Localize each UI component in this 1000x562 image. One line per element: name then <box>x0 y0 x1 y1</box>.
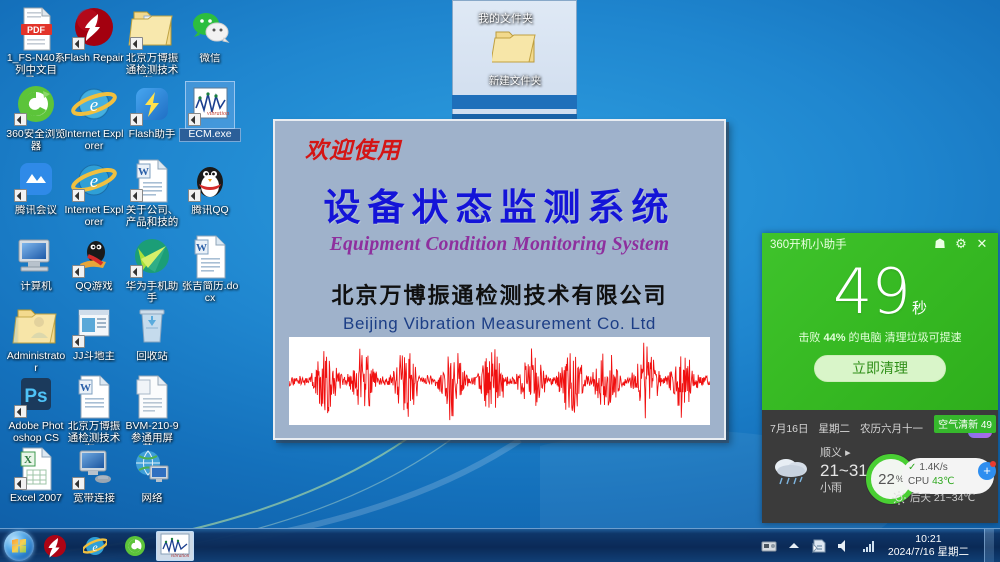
shortcut-overlay-icon <box>14 405 27 418</box>
desktop-icon-network[interactable]: 网络 <box>122 446 182 505</box>
photoshop-icon: Ps <box>12 374 60 420</box>
taskbar-button-flash-player[interactable] <box>36 531 74 561</box>
desktop-icon-administrator[interactable]: Administrator <box>6 304 66 374</box>
svg-text:vibration: vibration <box>171 554 190 559</box>
desktop-icon-label: 网络 <box>122 493 182 505</box>
excel-icon: X <box>12 446 60 492</box>
flash-player-icon <box>43 534 67 558</box>
forecast-row: 后天 21~34℃ <box>892 490 975 505</box>
desktop-icon-jj-landlord[interactable]: JJ斗地主 <box>64 304 124 363</box>
shortcut-overlay-icon <box>130 113 143 126</box>
sun-icon <box>892 491 906 505</box>
system-tray[interactable]: 10:21 2024/7/16 星期二 <box>761 529 1000 562</box>
tray-device-icon[interactable] <box>761 538 777 554</box>
desktop-icon-label: Adobe Photoshop CS5... <box>6 421 66 445</box>
shortcut-overlay-icon <box>14 477 27 490</box>
network-speed-row: ✓ 1.4K/s <box>908 461 988 475</box>
svg-text:W: W <box>138 166 149 178</box>
word-document-icon: W <box>128 158 176 204</box>
shortcut-overlay-icon <box>130 189 143 202</box>
svg-text:Ps: Ps <box>24 386 47 407</box>
qq-games-icon <box>70 234 118 280</box>
network-signal-icon[interactable] <box>861 538 877 554</box>
desktop-icon-company-doc[interactable]: W 北京万博振通检测技术有... <box>64 374 124 445</box>
splash-title-chinese: 设备状态监测系统 <box>289 177 710 231</box>
desktop-icon-wechat[interactable]: 微信 <box>180 6 240 65</box>
desktop-icon-label: Internet Explorer <box>64 129 124 152</box>
svg-text:X: X <box>24 454 32 466</box>
show-hidden-icons-icon[interactable] <box>786 538 802 554</box>
taskbar-clock[interactable]: 10:21 2024/7/16 星期二 <box>886 533 975 559</box>
qq-penguin-icon <box>186 158 234 204</box>
huawei-assistant-icon <box>128 234 176 280</box>
widget-lunar-date: 农历六月十一 <box>860 421 923 436</box>
desktop-icon-label: ECM.exe <box>180 129 240 141</box>
internet-explorer-icon: e <box>70 82 118 128</box>
show-desktop-button[interactable] <box>984 529 994 562</box>
chevron-right-icon: ▸ <box>845 447 851 459</box>
svg-text:PDF: PDF <box>27 25 46 35</box>
svg-text:W: W <box>196 242 207 254</box>
desktop-icon-label: 北京万博振通检测技术有... <box>122 53 182 77</box>
pdf-document-icon: PDF <box>12 6 60 52</box>
folder-icon <box>128 6 176 52</box>
desktop-folder-new[interactable]: 新建文件夹 <box>455 26 575 88</box>
shortcut-overlay-icon <box>14 189 27 202</box>
gear-icon[interactable]: ⚙ <box>953 236 969 252</box>
shortcut-overlay-icon <box>188 189 201 202</box>
desktop-icon-label: 1_FS-N40系列中文目录.... <box>6 53 66 77</box>
desktop-icon-about-company-doc[interactable]: W 关于公司、产品和技的介... <box>122 158 182 229</box>
desktop-icon-internet-explorer-2[interactable]: e Internet Explorer <box>64 158 124 228</box>
desktop-icon-label: 360安全浏览器 <box>6 129 66 152</box>
desktop-icon-label: 北京万博振通检测技术有... <box>64 421 124 445</box>
recycle-bin-icon <box>128 304 176 350</box>
widget-dark-panel: 7月16日 星期二 农历六月十一 AI 空气清新 49 顺义 ▸ 21~31 <box>762 410 998 523</box>
widget-title: 360开机小助手 <box>770 236 927 252</box>
clean-now-button[interactable]: 立即清理 <box>814 355 946 382</box>
desktop-icon-label: 张吉简历.docx <box>180 281 240 304</box>
desktop-icon-label: Flash Repair <box>64 53 124 65</box>
clock-time: 10:21 <box>888 533 969 546</box>
computer-icon <box>12 234 60 280</box>
desktop-icon-label: Excel 2007 <box>6 493 66 505</box>
check-icon: ✓ <box>908 461 916 475</box>
desktop-icon-ecm-exe[interactable]: vibration ECM.exe <box>180 82 240 141</box>
widget-green-panel: 360开机小助手 ☗ ⚙ ✕ 49秒 击败 44% 的电脑 清理垃圾可提速 立即… <box>762 233 998 410</box>
network-icon <box>128 446 176 492</box>
desktop-icon-huawei-assistant[interactable]: 华为手机助手 <box>122 234 182 304</box>
vibration-waveform <box>289 337 710 425</box>
desktop-icon-label: 华为手机助手 <box>122 281 182 304</box>
word-document-icon: W <box>186 234 234 280</box>
desktop-icon-label: 微信 <box>180 53 240 65</box>
memory-percent-value: 22 <box>878 471 895 488</box>
network-speed-value: 1.4K/s <box>919 461 947 475</box>
user-folder-icon <box>12 304 60 350</box>
widget-header: 360开机小助手 ☗ ⚙ ✕ <box>762 233 998 255</box>
splash-welcome-text: 欢迎使用 <box>305 131 710 165</box>
desktop-icon-photoshop[interactable]: Ps Adobe Photoshop CS5... <box>6 374 66 445</box>
clock-date: 2024/7/16 星期二 <box>888 546 969 559</box>
desktop-icon-broadband-connection[interactable]: 宽带连接 <box>64 446 124 505</box>
desktop-icon-tencent-meeting[interactable]: 腾讯会议 <box>6 158 66 217</box>
desktop-icon-label: QQ游戏 <box>64 281 124 293</box>
taskbar-button-ecm[interactable]: vibration <box>156 531 194 561</box>
360-browser-icon <box>123 534 147 558</box>
desktop-icon-bvm-doc[interactable]: BVM-210-9参通用屏幕... <box>122 374 182 445</box>
shortcut-overlay-icon <box>130 265 143 278</box>
desktop-folder-label: 新建文件夹 <box>455 73 575 88</box>
cpu-temp-row: CPU 43℃ <box>908 475 988 489</box>
shirt-icon[interactable]: ☗ <box>932 236 948 252</box>
svg-text:W: W <box>80 382 91 394</box>
air-quality-badge: 空气清新 49 <box>934 415 996 433</box>
volume-icon[interactable] <box>836 538 852 554</box>
internet-explorer-icon: e <box>70 158 118 204</box>
ecm-splash-window[interactable]: 欢迎使用 设备状态监测系统 Equipment Condition Monito… <box>273 119 726 440</box>
shortcut-overlay-icon <box>130 37 143 50</box>
wechat-icon <box>186 6 234 52</box>
boot-time-display: 49秒 <box>762 261 998 323</box>
widget-date: 7月16日 <box>770 421 809 436</box>
action-center-icon[interactable] <box>811 538 827 554</box>
rain-cloud-icon <box>770 454 814 488</box>
desktop[interactable]: 我的文件夹 新建文件夹 PDF 1_FS-N40系列中文目录.... Flash… <box>0 0 1000 562</box>
svg-text:e: e <box>90 95 98 116</box>
desktop-icon-label: Internet Explorer <box>64 205 124 228</box>
ecm-taskbar-icon: vibration <box>160 533 190 559</box>
desktop-icon-company-folder[interactable]: 北京万博振通检测技术有... <box>122 6 182 77</box>
shortcut-overlay-icon <box>72 335 85 348</box>
desktop-icon-label: JJ斗地主 <box>64 351 124 363</box>
cpu-temp-value: 43℃ <box>932 475 954 489</box>
weather-city[interactable]: 顺义 ▸ <box>820 446 868 461</box>
shortcut-overlay-icon <box>72 189 85 202</box>
desktop-icon-pdf-catalog[interactable]: PDF 1_FS-N40系列中文目录.... <box>6 6 66 77</box>
broadband-connection-icon <box>70 446 118 492</box>
taskbar-button-internet-explorer[interactable]: e <box>76 531 114 561</box>
text-document-icon <box>128 374 176 420</box>
beat-percentage-text: 击败 44% 的电脑 清理垃圾可提速 <box>762 329 998 345</box>
cpu-label: CPU <box>908 475 929 489</box>
desktop-icon-label: BVM-210-9参通用屏幕... <box>122 421 182 445</box>
folder-tooltip: 我的文件夹 <box>478 10 533 26</box>
desktop-icon-qq-games[interactable]: QQ游戏 <box>64 234 124 293</box>
shortcut-overlay-icon <box>72 265 85 278</box>
360-browser-icon <box>12 82 60 128</box>
shortcut-overlay-icon <box>72 477 85 490</box>
svg-text:vibration: vibration <box>207 111 229 117</box>
desktop-icon-360-browser[interactable]: 360安全浏览器 <box>6 82 66 152</box>
forecast-text: 后天 21~34℃ <box>910 490 975 505</box>
desktop-icon-label: 计算机 <box>6 281 66 293</box>
weather-description: 小雨 <box>820 481 868 496</box>
desktop-icon-flash-assistant[interactable]: Flash助手 <box>122 82 182 141</box>
taskbar-button-360-browser[interactable] <box>116 531 154 561</box>
ecm-application-icon: vibration <box>186 82 234 128</box>
beat-percent-value: 44% <box>823 332 845 344</box>
desktop-icon-resume-docx[interactable]: W 张吉简历.docx <box>180 234 240 304</box>
desktop-icon-recycle-bin[interactable]: 回收站 <box>122 304 182 363</box>
tencent-meeting-icon <box>12 158 60 204</box>
folder-icon <box>492 26 538 66</box>
beat-suffix: 的电脑 清理垃圾可提速 <box>849 332 962 344</box>
add-widget-button[interactable]: + <box>978 462 996 480</box>
desktop-icon-label: 关于公司、产品和技的介... <box>122 205 182 229</box>
internet-explorer-icon: e <box>83 534 107 558</box>
beat-prefix: 击败 <box>798 332 820 344</box>
splash-company-english: Beijing Vibration Measurement Co. Ltd <box>289 314 710 334</box>
splash-company-chinese: 北京万博振通检测技术有限公司 <box>289 278 710 310</box>
desktop-icon-excel-2007[interactable]: X Excel 2007 <box>6 446 66 505</box>
desktop-icon-label: 腾讯QQ <box>180 205 240 217</box>
weather-temp-range: 21~31 <box>820 461 868 481</box>
flash-assistant-icon <box>128 82 176 128</box>
jj-landlord-icon <box>70 304 118 350</box>
splash-title-english: Equipment Condition Monitoring System <box>289 234 710 256</box>
desktop-icon-label: 腾讯会议 <box>6 205 66 217</box>
shortcut-overlay-icon <box>188 113 201 126</box>
taskbar[interactable]: e vibration <box>0 528 1000 562</box>
boot-seconds-unit: 秒 <box>912 300 927 317</box>
widget-weekday: 星期二 <box>819 421 851 436</box>
shortcut-overlay-icon <box>72 37 85 50</box>
desktop-icon-flash-repair[interactable]: Flash Repair <box>64 6 124 65</box>
desktop-icon-label: 回收站 <box>122 351 182 363</box>
close-icon[interactable]: ✕ <box>974 236 990 252</box>
flash-repair-icon <box>70 6 118 52</box>
desktop-icon-computer[interactable]: 计算机 <box>6 234 66 293</box>
desktop-icon-label: Administrator <box>6 351 66 374</box>
360-boot-assistant-widget[interactable]: 360开机小助手 ☗ ⚙ ✕ 49秒 击败 44% 的电脑 清理垃圾可提速 立即… <box>762 233 998 523</box>
desktop-icon-label: Flash助手 <box>122 129 182 141</box>
start-button[interactable] <box>4 531 34 561</box>
desktop-icon-internet-explorer[interactable]: e Internet Explorer <box>64 82 124 152</box>
weather-block[interactable]: 顺义 ▸ 21~31 小雨 <box>770 446 868 496</box>
shortcut-overlay-icon <box>14 113 27 126</box>
boot-seconds-value: 49 <box>833 255 910 328</box>
word-document-icon: W <box>70 374 118 420</box>
svg-text:e: e <box>90 171 98 192</box>
desktop-icon-label: 宽带连接 <box>64 493 124 505</box>
svg-text:e: e <box>92 540 98 554</box>
desktop-icon-tencent-qq[interactable]: 腾讯QQ <box>180 158 240 217</box>
